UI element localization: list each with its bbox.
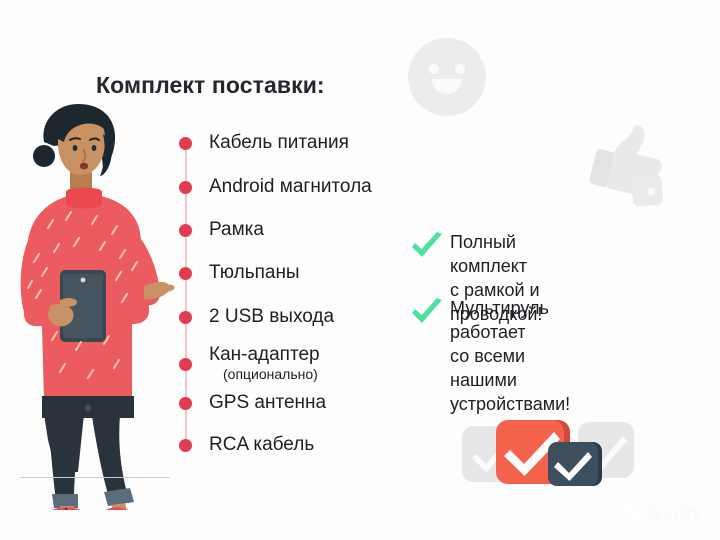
- promo-banner: Комплект поставки: Кабель питания Androi…: [0, 0, 720, 540]
- bullet-icon: [179, 311, 192, 324]
- page-title: Комплект поставки:: [96, 72, 325, 99]
- bullet-icon: [179, 267, 192, 280]
- list-item-label: GPS антенна: [209, 392, 326, 414]
- list-item-label: Android магнитола: [209, 176, 372, 198]
- list-item-label: RCA кабель: [209, 434, 314, 456]
- bullet-icon: [179, 224, 192, 237]
- avito-watermark: Avito: [618, 498, 712, 528]
- check-icon: [410, 232, 444, 262]
- list-item-label: Рамка: [209, 219, 264, 241]
- bullet-icon: [179, 439, 192, 452]
- avito-wordmark: Avito: [647, 503, 699, 526]
- list-item-sublabel: (опционально): [223, 366, 318, 382]
- bullet-icon: [179, 397, 192, 410]
- list-item-label: Кан-адаптер: [209, 344, 320, 366]
- package-list: Кабель питания Android магнитола Рамка Т…: [176, 132, 436, 462]
- check-icon: [410, 298, 444, 328]
- bullet-icon: [179, 358, 192, 371]
- list-item-label: 2 USB выхода: [209, 306, 334, 328]
- highlight-label: Мультируль работает со всеми нашими устр…: [450, 296, 570, 416]
- thumbs-up-icon: [578, 116, 676, 214]
- smiley-face-icon: [406, 36, 488, 118]
- list-item-label: Тюльпаны: [209, 262, 300, 284]
- ground-line: [20, 477, 170, 478]
- list-item-label: Кабель питания: [209, 132, 349, 154]
- bullet-icon: [179, 137, 192, 150]
- person-illustration: [8, 100, 188, 510]
- bullet-icon: [179, 181, 192, 194]
- checkbox-group-icon: [462, 414, 634, 494]
